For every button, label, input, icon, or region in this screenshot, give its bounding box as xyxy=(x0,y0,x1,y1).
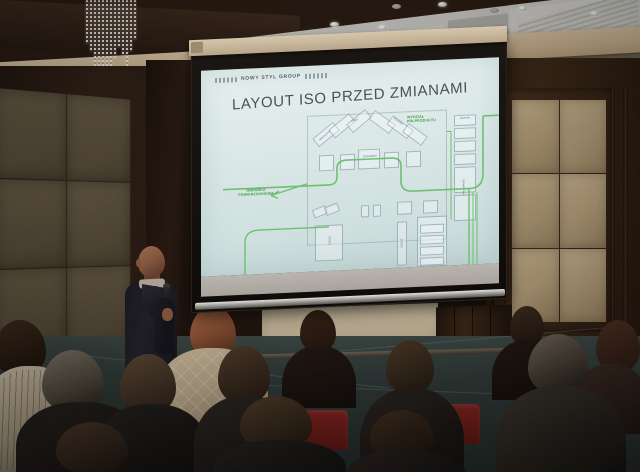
audience-shoulders xyxy=(282,346,356,408)
right-wall-acoustic-panels xyxy=(512,100,606,322)
downlight-icon xyxy=(392,4,401,9)
conference-hall-photo: NOWY STYL GROUP LAYOUT ISO PRZED ZMIANAM… xyxy=(0,0,640,472)
presenter-head xyxy=(138,246,165,277)
audience-head-grey-hair xyxy=(528,334,588,394)
brand-name: NOWY STYL GROUP xyxy=(241,73,301,82)
downlight-icon xyxy=(490,8,499,13)
audience-head xyxy=(386,340,434,394)
downlight-icon xyxy=(518,6,527,11)
audience-shoulders xyxy=(496,386,626,472)
brand-dots-left-icon xyxy=(215,77,237,83)
presenter-ear xyxy=(136,259,141,267)
audience xyxy=(0,292,640,472)
factory-layout-diagram: MAGAZYN LINIA MONTAŻ SPAWANIE xyxy=(201,99,499,277)
presentation-slide: NOWY STYL GROUP LAYOUT ISO PRZED ZMIANAM… xyxy=(201,57,499,277)
screen-surface: NOWY STYL GROUP LAYOUT ISO PRZED ZMIANAM… xyxy=(201,57,499,277)
downlight-icon xyxy=(330,22,339,27)
downlight-icon xyxy=(438,2,447,7)
downlight-icon xyxy=(378,25,387,30)
brand-dots-right-icon xyxy=(305,73,327,79)
downlight-icon xyxy=(590,11,599,16)
slide-brand-logo: NOWY STYL GROUP xyxy=(215,72,327,83)
green-flow-path xyxy=(201,97,499,276)
projection-screen: NOWY STYL GROUP LAYOUT ISO PRZED ZMIANAM… xyxy=(191,39,507,313)
